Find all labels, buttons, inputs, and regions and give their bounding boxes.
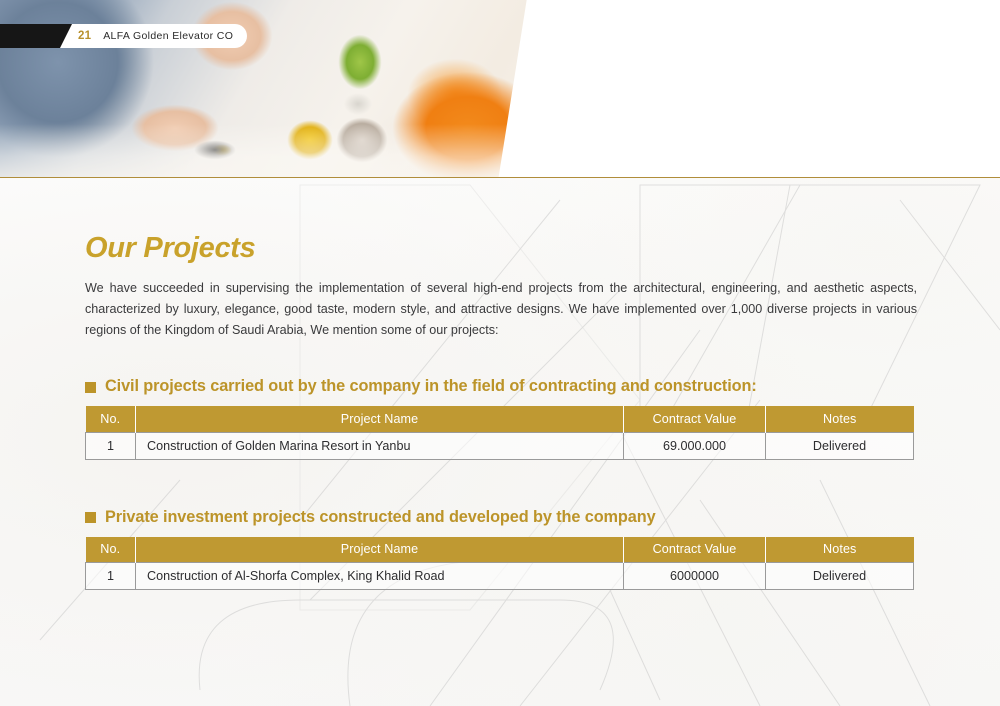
cell-notes: Delivered — [766, 563, 914, 590]
badge-label-pill: 21 ALFA Golden Elevator CO — [58, 24, 247, 48]
column-header-no: No. — [86, 406, 136, 432]
column-header-name: Project Name — [136, 537, 624, 563]
page-number: 21 — [78, 30, 91, 42]
table-header-row: No. Project Name Contract Value Notes — [86, 406, 914, 432]
hero-image-skyscrapers — [566, 0, 1000, 162]
cell-notes: Delivered — [766, 432, 914, 459]
column-header-value: Contract Value — [624, 537, 766, 563]
table-row: 1 Construction of Golden Marina Resort i… — [86, 432, 914, 459]
section-title-text: Private investment projects constructed … — [105, 508, 656, 527]
company-name: ALFA Golden Elevator CO — [103, 30, 233, 42]
section-heading-civil-projects: Civil projects carried out by the compan… — [85, 377, 915, 396]
page-content: Our Projects We have succeeded in superv… — [0, 178, 1000, 590]
column-header-name: Project Name — [136, 406, 624, 432]
document-page: 21 ALFA Golden Elevator CO Our Projects … — [0, 0, 1000, 706]
hero-bottom-white-band — [560, 150, 1000, 178]
cell-no: 1 — [86, 563, 136, 590]
square-bullet-icon — [85, 382, 96, 393]
cell-project-name: Construction of Al-Shorfa Complex, King … — [136, 563, 624, 590]
table-row: 1 Construction of Al-Shorfa Complex, Kin… — [86, 563, 914, 590]
page-title: Our Projects — [85, 232, 915, 265]
column-header-value: Contract Value — [624, 406, 766, 432]
intro-paragraph: We have succeeded in supervising the imp… — [85, 278, 917, 341]
column-header-notes: Notes — [766, 406, 914, 432]
column-header-notes: Notes — [766, 537, 914, 563]
cell-no: 1 — [86, 432, 136, 459]
section-title-text: Civil projects carried out by the compan… — [105, 377, 757, 396]
section-heading-private-investment: Private investment projects constructed … — [85, 508, 915, 527]
table-civil-projects: No. Project Name Contract Value Notes 1 … — [85, 406, 914, 460]
column-header-no: No. — [86, 537, 136, 563]
page-badge: 21 ALFA Golden Elevator CO — [0, 24, 247, 48]
table-private-investment-projects: No. Project Name Contract Value Notes 1 … — [85, 537, 914, 591]
cell-contract-value: 6000000 — [624, 563, 766, 590]
table-header-row: No. Project Name Contract Value Notes — [86, 537, 914, 563]
cell-project-name: Construction of Golden Marina Resort in … — [136, 432, 624, 459]
cell-contract-value: 69.000.000 — [624, 432, 766, 459]
square-bullet-icon — [85, 512, 96, 523]
badge-black-tab — [0, 24, 72, 48]
